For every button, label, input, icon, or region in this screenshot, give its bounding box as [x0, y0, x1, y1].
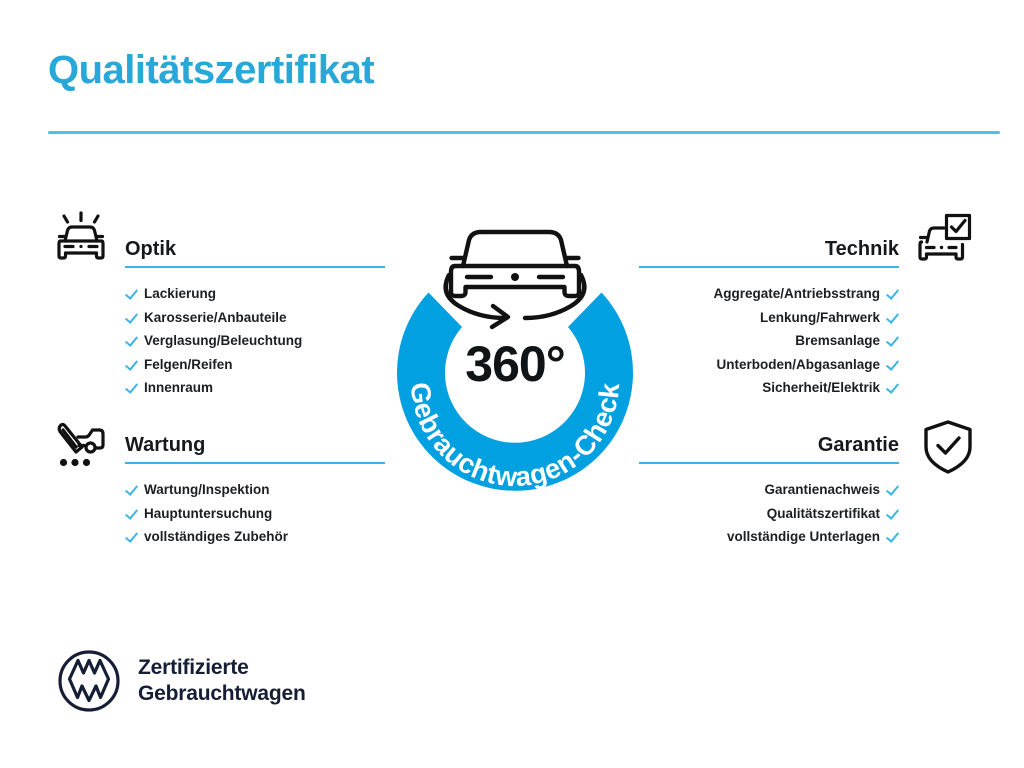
list-item-label: Unterboden/Abgasanlage: [716, 353, 880, 377]
check-icon: [125, 530, 138, 543]
list-item: vollständiges Zubehör: [125, 525, 385, 549]
section-heading-technik: Technik: [639, 238, 899, 266]
section-technik: Technik Aggregate/Antriebsstrang Lenkung…: [639, 238, 899, 400]
list-item: Wartung/Inspektion: [125, 478, 385, 502]
footer-line-1: Zertifizierte: [138, 655, 306, 681]
checklist-garantie: Garantienachweis Qualitätszertifikat vol…: [639, 478, 899, 549]
list-item-label: Sicherheit/Elektrik: [762, 376, 880, 400]
check-icon: [886, 287, 899, 300]
list-item-label: vollständiges Zubehör: [144, 525, 288, 549]
list-item: Karosserie/Anbauteile: [125, 306, 385, 330]
list-item: Aggregate/Antriebsstrang: [639, 282, 899, 306]
checklist-technik: Aggregate/Antriebsstrang Lenkung/Fahrwer…: [639, 282, 899, 400]
list-item-label: Lenkung/Fahrwerk: [760, 306, 880, 330]
list-item-label: Qualitätszertifikat: [767, 502, 880, 526]
title-divider: [48, 131, 1000, 134]
check-icon: [125, 507, 138, 520]
list-item: Lenkung/Fahrwerk: [639, 306, 899, 330]
section-divider-garantie: [639, 462, 899, 464]
list-item-label: Wartung/Inspektion: [144, 478, 270, 502]
check-icon: [125, 334, 138, 347]
list-item-label: Innenraum: [144, 376, 213, 400]
footer-brand: Zertifizierte Gebrauchtwagen: [56, 648, 306, 714]
list-item: Hauptuntersuchung: [125, 502, 385, 526]
check-icon: [886, 358, 899, 371]
car-shine-icon: [48, 208, 114, 274]
check-icon: [886, 507, 899, 520]
section-divider-optik: [125, 266, 385, 268]
list-item: Qualitätszertifikat: [639, 502, 899, 526]
list-item-label: Aggregate/Antriebsstrang: [713, 282, 880, 306]
section-optik: Optik Lackierung Karosserie/Anbauteile V…: [125, 238, 385, 400]
list-item: Verglasung/Beleuchtung: [125, 329, 385, 353]
car-service-tool-icon: [48, 414, 114, 480]
list-item-label: Verglasung/Beleuchtung: [144, 329, 302, 353]
check-icon: [886, 483, 899, 496]
shield-check-icon: [915, 414, 981, 480]
check-icon: [886, 381, 899, 394]
list-item: Garantienachweis: [639, 478, 899, 502]
list-item-label: Lackierung: [144, 282, 216, 306]
check-icon: [125, 483, 138, 496]
list-item: Bremsanlage: [639, 329, 899, 353]
list-item-label: Felgen/Reifen: [144, 353, 233, 377]
badge-360-gebrauchtwagen-check: Gebrauchtwagen-Check 360°: [375, 196, 655, 496]
section-garantie: Garantie Garantienachweis Qualitätszerti…: [639, 434, 899, 549]
checklist-wartung: Wartung/Inspektion Hauptuntersuchung vol…: [125, 478, 385, 549]
section-heading-optik: Optik: [125, 238, 385, 266]
section-divider-wartung: [125, 462, 385, 464]
badge-number: 360°: [375, 339, 655, 389]
list-item-label: Garantienachweis: [764, 478, 880, 502]
vw-logo: [56, 648, 122, 714]
section-heading-wartung: Wartung: [125, 434, 385, 462]
check-icon: [886, 311, 899, 324]
check-icon: [125, 311, 138, 324]
check-icon: [886, 334, 899, 347]
list-item: Innenraum: [125, 376, 385, 400]
list-item: Lackierung: [125, 282, 385, 306]
list-item: Unterboden/Abgasanlage: [639, 353, 899, 377]
car-checkbox-icon: [910, 208, 976, 274]
list-item: Felgen/Reifen: [125, 353, 385, 377]
section-divider-technik: [639, 266, 899, 268]
checklist-optik: Lackierung Karosserie/Anbauteile Verglas…: [125, 282, 385, 400]
list-item-label: vollständige Unterlagen: [727, 525, 880, 549]
list-item-label: Hauptuntersuchung: [144, 502, 272, 526]
list-item: Sicherheit/Elektrik: [639, 376, 899, 400]
list-item-label: Karosserie/Anbauteile: [144, 306, 287, 330]
footer-text: Zertifizierte Gebrauchtwagen: [138, 655, 306, 706]
list-item: vollständige Unterlagen: [639, 525, 899, 549]
page-title: Qualitätszertifikat: [48, 48, 374, 92]
check-icon: [125, 381, 138, 394]
check-icon: [125, 358, 138, 371]
car-rotate-icon: [446, 232, 585, 327]
section-heading-garantie: Garantie: [639, 434, 899, 462]
section-wartung: Wartung Wartung/Inspektion Hauptuntersuc…: [125, 434, 385, 549]
footer-line-2: Gebrauchtwagen: [138, 681, 306, 707]
check-icon: [125, 287, 138, 300]
list-item-label: Bremsanlage: [795, 329, 880, 353]
check-icon: [886, 530, 899, 543]
